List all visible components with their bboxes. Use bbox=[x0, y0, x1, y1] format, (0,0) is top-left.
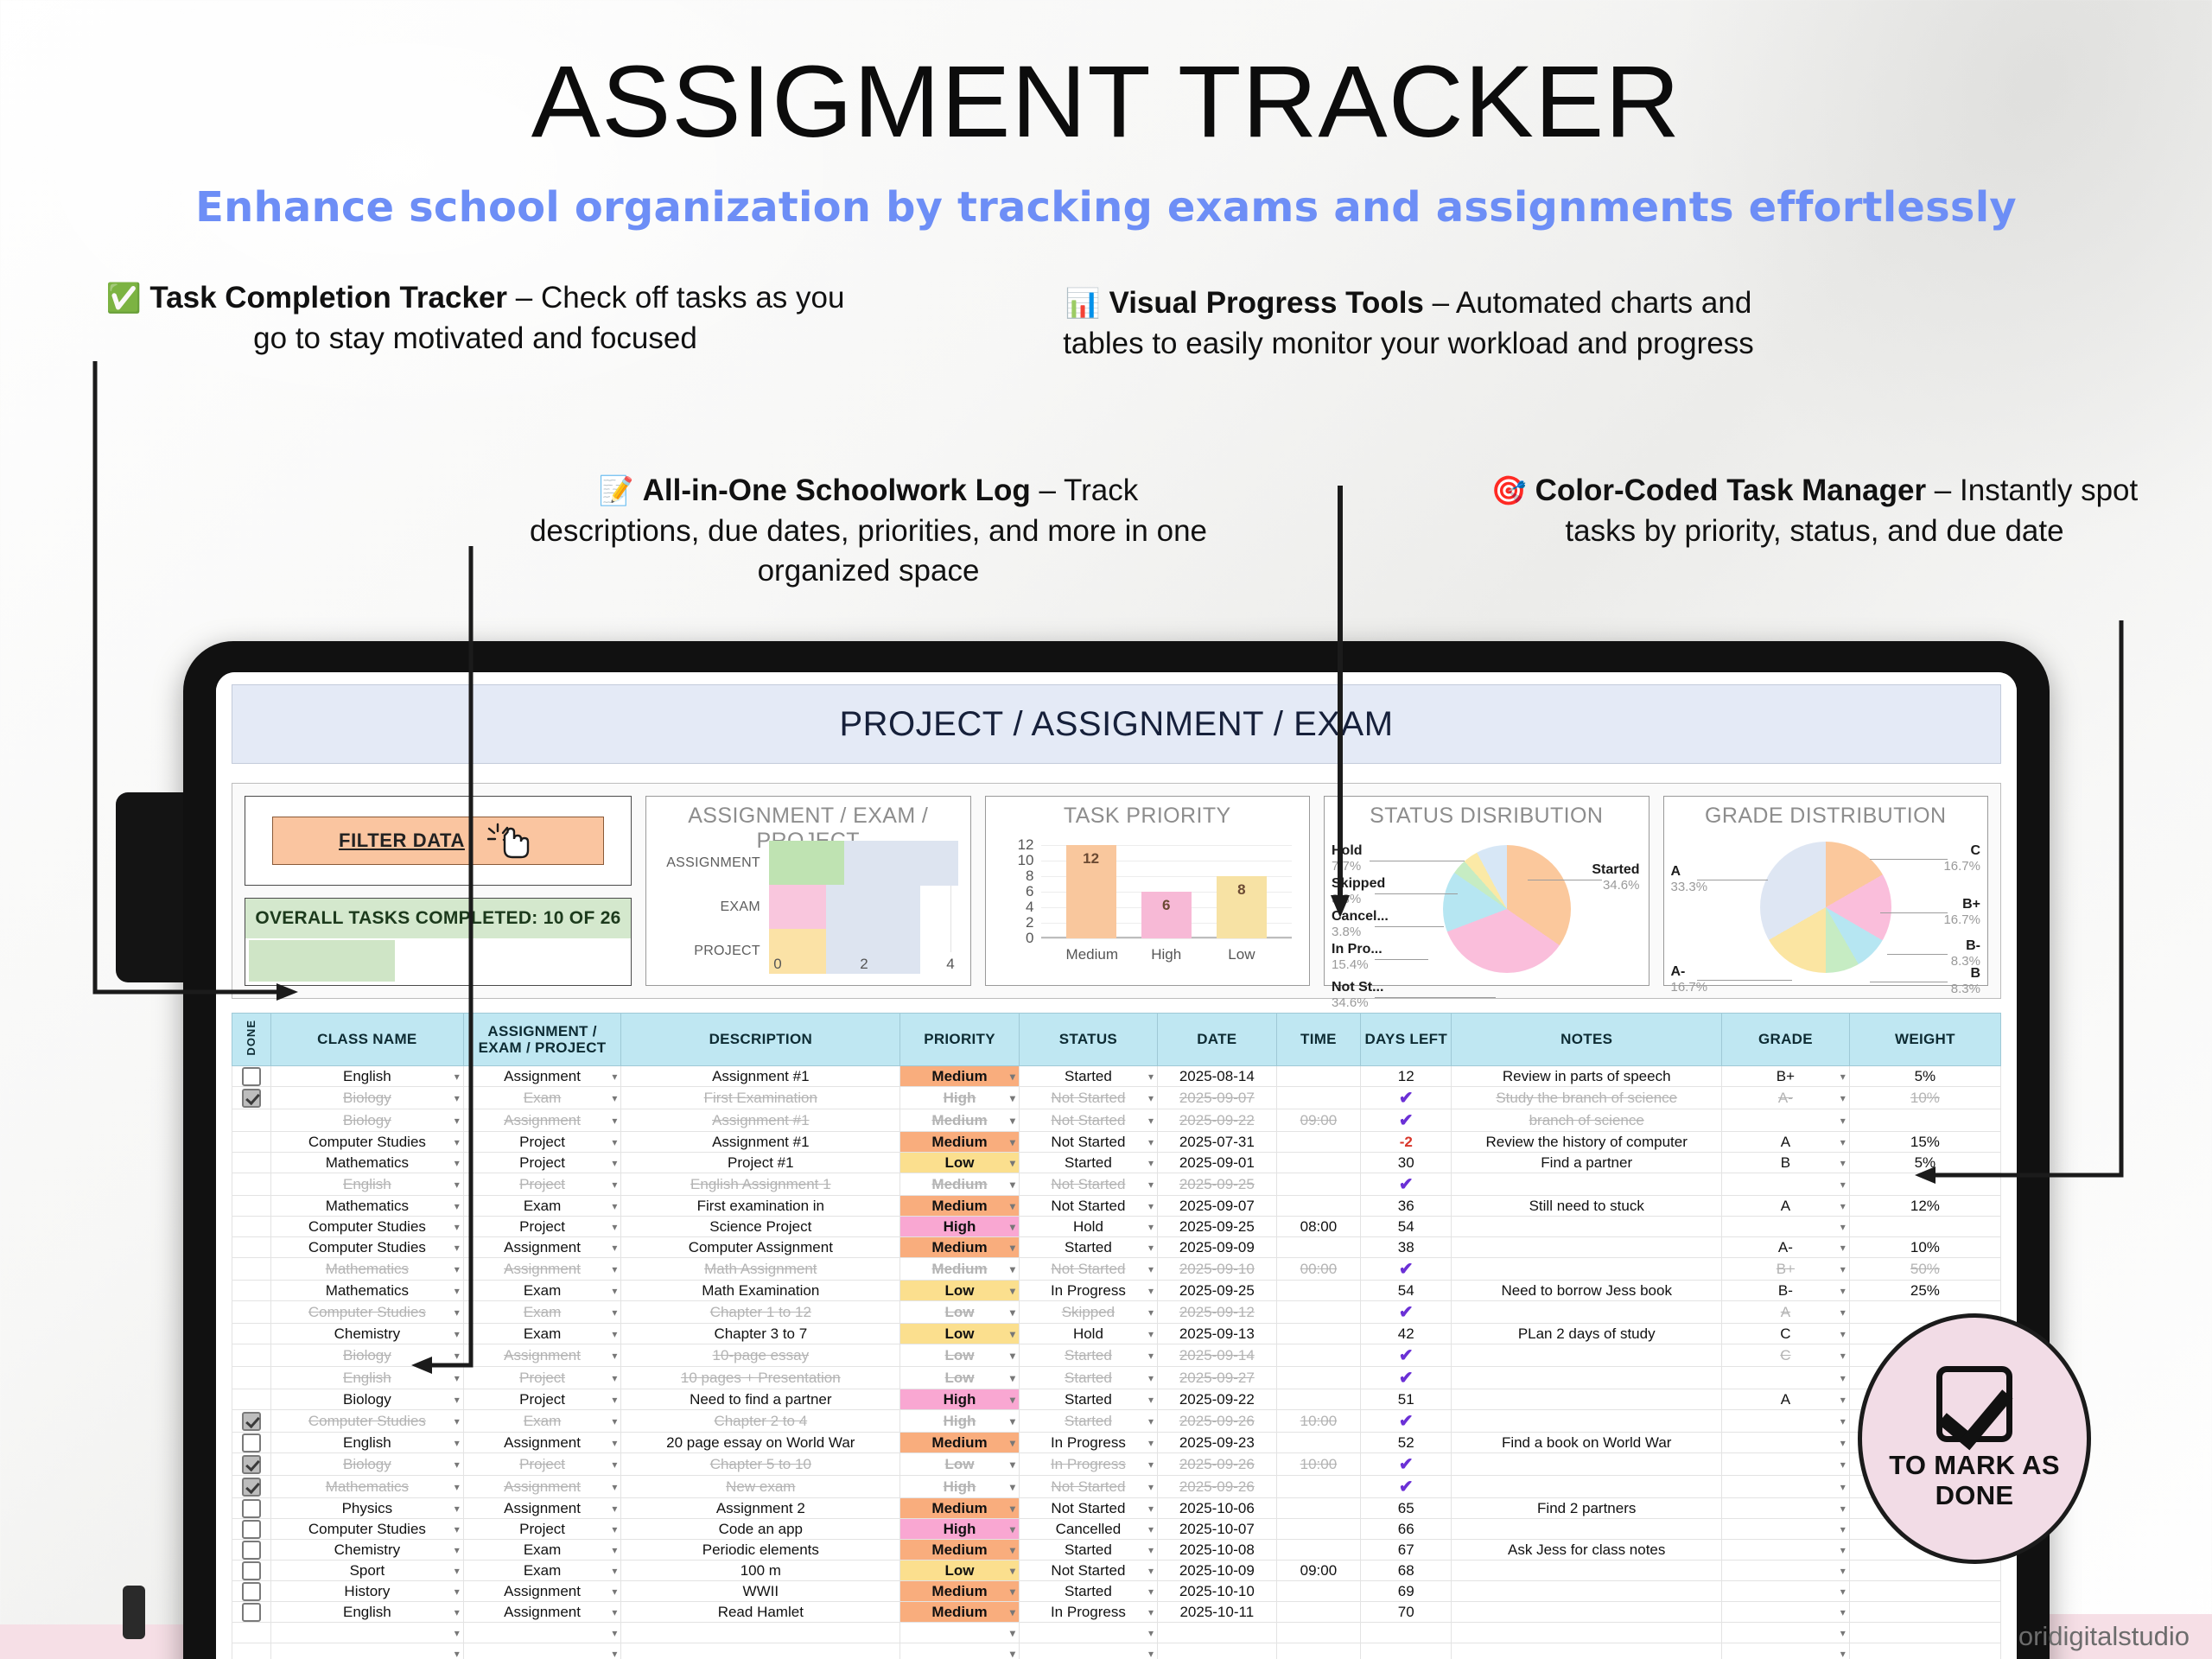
chevron-down-icon[interactable]: ▾ bbox=[1148, 1200, 1154, 1212]
cell-date[interactable]: 2025-09-13 bbox=[1158, 1324, 1277, 1344]
cell-time[interactable] bbox=[1276, 1173, 1361, 1196]
cell-notes[interactable] bbox=[1452, 1453, 1722, 1476]
cell-priority[interactable]: Medium▾ bbox=[900, 1109, 1020, 1132]
cell-weight[interactable] bbox=[1849, 1643, 2000, 1659]
col-priority[interactable]: PRIORITY bbox=[900, 1014, 1020, 1066]
table-row[interactable]: Chemistry▾Exam▾Periodic elementsMedium▾S… bbox=[232, 1540, 2001, 1560]
cell-type[interactable]: Assignment▾ bbox=[463, 1109, 621, 1132]
cell-grade[interactable]: ▾ bbox=[1722, 1410, 1850, 1433]
chevron-down-icon[interactable]: ▾ bbox=[454, 1242, 460, 1254]
cell-description[interactable]: Project #1 bbox=[621, 1153, 900, 1173]
cell-notes[interactable] bbox=[1452, 1643, 1722, 1659]
chevron-down-icon[interactable]: ▾ bbox=[612, 1242, 617, 1254]
cell-time[interactable]: 09:00 bbox=[1276, 1560, 1361, 1581]
cell-status[interactable]: In Progress▾ bbox=[1019, 1281, 1157, 1301]
cell-type[interactable]: Project▾ bbox=[463, 1217, 621, 1237]
cell-date[interactable]: 2025-09-25 bbox=[1158, 1173, 1277, 1196]
cell-notes[interactable] bbox=[1452, 1344, 1722, 1367]
cell-time[interactable]: 08:00 bbox=[1276, 1217, 1361, 1237]
cell-notes[interactable]: Still need to stuck bbox=[1452, 1196, 1722, 1217]
cell-status[interactable]: Not Started▾ bbox=[1019, 1196, 1157, 1217]
chevron-down-icon[interactable]: ▾ bbox=[454, 1221, 460, 1233]
cell-weight[interactable]: 15% bbox=[1849, 1132, 2000, 1153]
chevron-down-icon[interactable]: ▾ bbox=[612, 1394, 617, 1406]
cell-class-name[interactable]: Sport▾ bbox=[271, 1560, 464, 1581]
chevron-down-icon[interactable]: ▾ bbox=[612, 1306, 617, 1319]
cell-time[interactable] bbox=[1276, 1132, 1361, 1153]
cell-priority[interactable]: Medium▾ bbox=[900, 1173, 1020, 1196]
cell-weight[interactable] bbox=[1849, 1173, 2000, 1196]
chevron-down-icon[interactable]: ▾ bbox=[1840, 1437, 1846, 1449]
done-checkbox-cell[interactable] bbox=[232, 1087, 271, 1109]
chevron-down-icon[interactable]: ▾ bbox=[1010, 1415, 1015, 1427]
cell-description[interactable]: Chapter 2 to 4 bbox=[621, 1410, 900, 1433]
cell-grade[interactable]: A-▾ bbox=[1722, 1087, 1850, 1109]
chevron-down-icon[interactable]: ▾ bbox=[454, 1285, 460, 1297]
done-checkbox-cell[interactable] bbox=[232, 1560, 271, 1581]
checkbox-unchecked-icon[interactable] bbox=[242, 1433, 261, 1452]
done-checkbox-cell[interactable] bbox=[232, 1581, 271, 1602]
cell-type[interactable]: Project▾ bbox=[463, 1389, 621, 1410]
cell-time[interactable] bbox=[1276, 1476, 1361, 1498]
cell-class-name[interactable]: English▾ bbox=[271, 1173, 464, 1196]
done-checkbox-cell[interactable] bbox=[232, 1623, 271, 1643]
chevron-down-icon[interactable]: ▾ bbox=[454, 1306, 460, 1319]
cell-type[interactable]: Assignment▾ bbox=[463, 1581, 621, 1602]
chevron-down-icon[interactable]: ▾ bbox=[1148, 1415, 1154, 1427]
cell-status[interactable]: Not Started▾ bbox=[1019, 1109, 1157, 1132]
done-checkbox-cell[interactable] bbox=[232, 1389, 271, 1410]
cell-time[interactable] bbox=[1276, 1237, 1361, 1258]
chevron-down-icon[interactable]: ▾ bbox=[1010, 1115, 1015, 1127]
chevron-down-icon[interactable]: ▾ bbox=[1010, 1157, 1015, 1169]
cell-type[interactable]: Project▾ bbox=[463, 1453, 621, 1476]
tablet-volume-button-up[interactable] bbox=[123, 1586, 145, 1639]
cell-notes[interactable] bbox=[1452, 1367, 1722, 1389]
cell-date[interactable]: 2025-09-10 bbox=[1158, 1258, 1277, 1281]
cell-weight[interactable] bbox=[1849, 1623, 2000, 1643]
chevron-down-icon[interactable]: ▾ bbox=[1010, 1648, 1015, 1659]
chevron-down-icon[interactable]: ▾ bbox=[1148, 1586, 1154, 1598]
done-checkbox-cell[interactable] bbox=[232, 1433, 271, 1453]
done-checkbox-cell[interactable] bbox=[232, 1237, 271, 1258]
done-checkbox-cell[interactable] bbox=[232, 1217, 271, 1237]
cell-class-name[interactable]: Computer Studies▾ bbox=[271, 1410, 464, 1433]
cell-status[interactable]: Not Started▾ bbox=[1019, 1476, 1157, 1498]
cell-description[interactable]: Periodic elements bbox=[621, 1540, 900, 1560]
cell-grade[interactable]: B+▾ bbox=[1722, 1258, 1850, 1281]
chevron-down-icon[interactable]: ▾ bbox=[1840, 1115, 1846, 1127]
chevron-down-icon[interactable]: ▾ bbox=[612, 1221, 617, 1233]
cell-type[interactable]: Project▾ bbox=[463, 1173, 621, 1196]
cell-weight[interactable] bbox=[1849, 1217, 2000, 1237]
chevron-down-icon[interactable]: ▾ bbox=[454, 1415, 460, 1427]
cell-class-name[interactable]: Chemistry▾ bbox=[271, 1540, 464, 1560]
done-checkbox-cell[interactable] bbox=[232, 1602, 271, 1623]
cell-time[interactable] bbox=[1276, 1301, 1361, 1324]
chevron-down-icon[interactable]: ▾ bbox=[1010, 1459, 1015, 1471]
cell-grade[interactable]: ▾ bbox=[1722, 1602, 1850, 1623]
cell-type[interactable]: Assignment▾ bbox=[463, 1498, 621, 1519]
col-done[interactable]: DONE bbox=[232, 1014, 271, 1066]
cell-description[interactable]: English Assignment 1 bbox=[621, 1173, 900, 1196]
chevron-down-icon[interactable]: ▾ bbox=[1840, 1459, 1846, 1471]
cell-date[interactable]: 2025-10-10 bbox=[1158, 1581, 1277, 1602]
chevron-down-icon[interactable]: ▾ bbox=[1840, 1503, 1846, 1515]
done-checkbox-cell[interactable] bbox=[232, 1324, 271, 1344]
cell-type[interactable]: Project▾ bbox=[463, 1153, 621, 1173]
cell-type[interactable]: Exam▾ bbox=[463, 1087, 621, 1109]
table-row[interactable]: Computer Studies▾Project▾Assignment #1Me… bbox=[232, 1132, 2001, 1153]
cell-notes[interactable] bbox=[1452, 1237, 1722, 1258]
cell-notes[interactable] bbox=[1452, 1476, 1722, 1498]
cell-grade[interactable]: ▾ bbox=[1722, 1109, 1850, 1132]
chevron-down-icon[interactable]: ▾ bbox=[1148, 1115, 1154, 1127]
cell-grade[interactable]: ▾ bbox=[1722, 1173, 1850, 1196]
cell-date[interactable]: 2025-10-11 bbox=[1158, 1602, 1277, 1623]
cell-weight[interactable]: 5% bbox=[1849, 1153, 2000, 1173]
chevron-down-icon[interactable]: ▾ bbox=[454, 1648, 460, 1659]
col-class-name[interactable]: CLASS NAME bbox=[271, 1014, 464, 1066]
cell-notes[interactable]: Need to borrow Jess book bbox=[1452, 1281, 1722, 1301]
cell-class-name[interactable]: Computer Studies▾ bbox=[271, 1217, 464, 1237]
cell-description[interactable]: WWII bbox=[621, 1581, 900, 1602]
cell-time[interactable]: 10:00 bbox=[1276, 1453, 1361, 1476]
done-checkbox-cell[interactable] bbox=[232, 1173, 271, 1196]
table-row[interactable]: Computer Studies▾Project▾Science Project… bbox=[232, 1217, 2001, 1237]
cell-notes[interactable] bbox=[1452, 1581, 1722, 1602]
cell-time[interactable] bbox=[1276, 1281, 1361, 1301]
checkbox-unchecked-icon[interactable] bbox=[242, 1067, 261, 1086]
cell-grade[interactable]: ▾ bbox=[1722, 1540, 1850, 1560]
cell-description[interactable]: Assignment 2 bbox=[621, 1498, 900, 1519]
chevron-down-icon[interactable]: ▾ bbox=[454, 1179, 460, 1191]
cell-priority[interactable]: Low▾ bbox=[900, 1281, 1020, 1301]
table-row[interactable]: Mathematics▾Exam▾Math ExaminationLow▾In … bbox=[232, 1281, 2001, 1301]
cell-type[interactable]: Exam▾ bbox=[463, 1324, 621, 1344]
cell-class-name[interactable]: Biology▾ bbox=[271, 1109, 464, 1132]
chevron-down-icon[interactable]: ▾ bbox=[612, 1328, 617, 1340]
chevron-down-icon[interactable]: ▾ bbox=[1010, 1092, 1015, 1104]
cell-status[interactable]: In Progress▾ bbox=[1019, 1453, 1157, 1476]
cell-description[interactable]: Assignment #1 bbox=[621, 1109, 900, 1132]
cell-description[interactable]: Chapter 1 to 12 bbox=[621, 1301, 900, 1324]
chevron-down-icon[interactable]: ▾ bbox=[1148, 1221, 1154, 1233]
cell-priority[interactable]: Medium▾ bbox=[900, 1132, 1020, 1153]
cell-time[interactable] bbox=[1276, 1498, 1361, 1519]
cell-priority[interactable]: Medium▾ bbox=[900, 1433, 1020, 1453]
chevron-down-icon[interactable]: ▾ bbox=[454, 1544, 460, 1556]
cell-class-name[interactable]: ▾ bbox=[271, 1643, 464, 1659]
chevron-down-icon[interactable]: ▾ bbox=[1840, 1157, 1846, 1169]
cell-date[interactable]: 2025-09-14 bbox=[1158, 1344, 1277, 1367]
chevron-down-icon[interactable]: ▾ bbox=[454, 1136, 460, 1148]
chevron-down-icon[interactable]: ▾ bbox=[454, 1627, 460, 1639]
cell-grade[interactable]: B+▾ bbox=[1722, 1066, 1850, 1087]
cell-class-name[interactable]: Biology▾ bbox=[271, 1087, 464, 1109]
chevron-down-icon[interactable]: ▾ bbox=[612, 1179, 617, 1191]
cell-description[interactable] bbox=[621, 1643, 900, 1659]
cell-grade[interactable]: A▾ bbox=[1722, 1132, 1850, 1153]
cell-grade[interactable]: A▾ bbox=[1722, 1196, 1850, 1217]
cell-date[interactable]: 2025-10-07 bbox=[1158, 1519, 1277, 1540]
cell-status[interactable]: ▾ bbox=[1019, 1623, 1157, 1643]
done-checkbox-cell[interactable] bbox=[232, 1153, 271, 1173]
cell-notes[interactable]: PLan 2 days of study bbox=[1452, 1324, 1722, 1344]
chevron-down-icon[interactable]: ▾ bbox=[1010, 1242, 1015, 1254]
cell-date[interactable]: 2025-09-12 bbox=[1158, 1301, 1277, 1324]
cell-description[interactable]: Science Project bbox=[621, 1217, 900, 1237]
cell-class-name[interactable]: Mathematics▾ bbox=[271, 1281, 464, 1301]
col-type[interactable]: ASSIGNMENT / EXAM / PROJECT bbox=[463, 1014, 621, 1066]
chevron-down-icon[interactable]: ▾ bbox=[1010, 1394, 1015, 1406]
cell-grade[interactable]: C▾ bbox=[1722, 1344, 1850, 1367]
cell-date[interactable]: 2025-09-25 bbox=[1158, 1217, 1277, 1237]
done-checkbox-cell[interactable] bbox=[232, 1367, 271, 1389]
checkbox-unchecked-icon[interactable] bbox=[242, 1561, 261, 1580]
chevron-down-icon[interactable]: ▾ bbox=[1010, 1136, 1015, 1148]
cell-class-name[interactable]: History▾ bbox=[271, 1581, 464, 1602]
cell-description[interactable]: Need to find a partner bbox=[621, 1389, 900, 1410]
chevron-down-icon[interactable]: ▾ bbox=[1840, 1586, 1846, 1598]
cell-notes[interactable]: Study the branch of science bbox=[1452, 1087, 1722, 1109]
cell-description[interactable]: 10-page essay bbox=[621, 1344, 900, 1367]
chevron-down-icon[interactable]: ▾ bbox=[1010, 1437, 1015, 1449]
chevron-down-icon[interactable]: ▾ bbox=[1148, 1242, 1154, 1254]
cell-description[interactable]: 100 m bbox=[621, 1560, 900, 1581]
cell-priority[interactable]: Medium▾ bbox=[900, 1602, 1020, 1623]
col-status[interactable]: STATUS bbox=[1019, 1014, 1157, 1066]
chevron-down-icon[interactable]: ▾ bbox=[612, 1523, 617, 1535]
cell-priority[interactable]: Medium▾ bbox=[900, 1540, 1020, 1560]
cell-time[interactable] bbox=[1276, 1196, 1361, 1217]
cell-grade[interactable]: C▾ bbox=[1722, 1324, 1850, 1344]
cell-class-name[interactable]: English▾ bbox=[271, 1066, 464, 1087]
chevron-down-icon[interactable]: ▾ bbox=[1840, 1179, 1846, 1191]
chevron-down-icon[interactable]: ▾ bbox=[612, 1350, 617, 1362]
cell-priority[interactable]: Low▾ bbox=[900, 1324, 1020, 1344]
chevron-down-icon[interactable]: ▾ bbox=[1010, 1586, 1015, 1598]
cell-grade[interactable]: B▾ bbox=[1722, 1153, 1850, 1173]
chevron-down-icon[interactable]: ▾ bbox=[612, 1263, 617, 1275]
chevron-down-icon[interactable]: ▾ bbox=[612, 1136, 617, 1148]
cell-grade[interactable]: A-▾ bbox=[1722, 1237, 1850, 1258]
chevron-down-icon[interactable]: ▾ bbox=[1148, 1544, 1154, 1556]
done-checkbox-cell[interactable] bbox=[232, 1281, 271, 1301]
cell-grade[interactable]: ▾ bbox=[1722, 1581, 1850, 1602]
cell-type[interactable]: Project▾ bbox=[463, 1367, 621, 1389]
cell-type[interactable]: Project▾ bbox=[463, 1132, 621, 1153]
cell-date[interactable]: 2025-10-06 bbox=[1158, 1498, 1277, 1519]
chevron-down-icon[interactable]: ▾ bbox=[1840, 1285, 1846, 1297]
table-row[interactable]: ▾▾▾▾▾ bbox=[232, 1623, 2001, 1643]
cell-weight[interactable]: 25% bbox=[1849, 1281, 2000, 1301]
chevron-down-icon[interactable]: ▾ bbox=[612, 1200, 617, 1212]
chevron-down-icon[interactable]: ▾ bbox=[1840, 1221, 1846, 1233]
cell-date[interactable]: 2025-09-26 bbox=[1158, 1410, 1277, 1433]
cell-time[interactable] bbox=[1276, 1433, 1361, 1453]
cell-status[interactable]: Not Started▾ bbox=[1019, 1132, 1157, 1153]
cell-status[interactable]: In Progress▾ bbox=[1019, 1602, 1157, 1623]
cell-date[interactable]: 2025-07-31 bbox=[1158, 1132, 1277, 1153]
chevron-down-icon[interactable]: ▾ bbox=[1148, 1606, 1154, 1618]
chevron-down-icon[interactable]: ▾ bbox=[1840, 1242, 1846, 1254]
cell-weight[interactable]: 10% bbox=[1849, 1087, 2000, 1109]
cell-status[interactable]: Not Started▾ bbox=[1019, 1258, 1157, 1281]
cell-time[interactable] bbox=[1276, 1153, 1361, 1173]
cell-time[interactable] bbox=[1276, 1344, 1361, 1367]
cell-priority[interactable]: Low▾ bbox=[900, 1367, 1020, 1389]
cell-status[interactable]: Not Started▾ bbox=[1019, 1087, 1157, 1109]
checkbox-unchecked-icon[interactable] bbox=[242, 1541, 261, 1560]
chevron-down-icon[interactable]: ▾ bbox=[454, 1157, 460, 1169]
cell-time[interactable] bbox=[1276, 1519, 1361, 1540]
cell-grade[interactable]: B-▾ bbox=[1722, 1281, 1850, 1301]
done-checkbox-cell[interactable] bbox=[232, 1066, 271, 1087]
cell-description[interactable]: 10 pages + Presentation bbox=[621, 1367, 900, 1389]
table-row[interactable]: Computer Studies▾Exam▾Chapter 2 to 4High… bbox=[232, 1410, 2001, 1433]
chevron-down-icon[interactable]: ▾ bbox=[1010, 1179, 1015, 1191]
cell-priority[interactable]: High▾ bbox=[900, 1476, 1020, 1498]
chevron-down-icon[interactable]: ▾ bbox=[454, 1263, 460, 1275]
col-days-left[interactable]: DAYS LEFT bbox=[1361, 1014, 1452, 1066]
cell-description[interactable]: New exam bbox=[621, 1476, 900, 1498]
done-checkbox-cell[interactable] bbox=[232, 1540, 271, 1560]
table-row[interactable]: Mathematics▾Exam▾First examination inMed… bbox=[232, 1196, 2001, 1217]
cell-priority[interactable]: ▾ bbox=[900, 1643, 1020, 1659]
checkbox-checked-icon[interactable] bbox=[242, 1455, 261, 1474]
cell-priority[interactable]: Medium▾ bbox=[900, 1581, 1020, 1602]
col-description[interactable]: DESCRIPTION bbox=[621, 1014, 900, 1066]
chevron-down-icon[interactable]: ▾ bbox=[612, 1092, 617, 1104]
chevron-down-icon[interactable]: ▾ bbox=[1148, 1459, 1154, 1471]
chevron-down-icon[interactable]: ▾ bbox=[454, 1200, 460, 1212]
cell-type[interactable]: Assignment▾ bbox=[463, 1344, 621, 1367]
cell-description[interactable]: Computer Assignment bbox=[621, 1237, 900, 1258]
chevron-down-icon[interactable]: ▾ bbox=[1840, 1372, 1846, 1384]
done-checkbox-cell[interactable] bbox=[232, 1344, 271, 1367]
chevron-down-icon[interactable]: ▾ bbox=[1148, 1648, 1154, 1659]
chevron-down-icon[interactable]: ▾ bbox=[612, 1606, 617, 1618]
cell-date[interactable]: 2025-09-26 bbox=[1158, 1453, 1277, 1476]
chevron-down-icon[interactable]: ▾ bbox=[1010, 1263, 1015, 1275]
cell-status[interactable]: Started▾ bbox=[1019, 1237, 1157, 1258]
chevron-down-icon[interactable]: ▾ bbox=[454, 1437, 460, 1449]
cell-date[interactable]: 2025-10-09 bbox=[1158, 1560, 1277, 1581]
chevron-down-icon[interactable]: ▾ bbox=[612, 1648, 617, 1659]
cell-date[interactable]: 2025-09-07 bbox=[1158, 1087, 1277, 1109]
checkbox-unchecked-icon[interactable] bbox=[242, 1499, 261, 1518]
cell-weight[interactable] bbox=[1849, 1602, 2000, 1623]
chevron-down-icon[interactable]: ▾ bbox=[1010, 1565, 1015, 1577]
cell-class-name[interactable]: English▾ bbox=[271, 1367, 464, 1389]
table-row[interactable]: Biology▾Project▾Need to find a partnerHi… bbox=[232, 1389, 2001, 1410]
chevron-down-icon[interactable]: ▾ bbox=[1148, 1350, 1154, 1362]
done-checkbox-cell[interactable] bbox=[232, 1132, 271, 1153]
table-row[interactable]: English▾Assignment▾Assignment #1Medium▾S… bbox=[232, 1066, 2001, 1087]
done-checkbox-cell[interactable] bbox=[232, 1258, 271, 1281]
cell-grade[interactable]: A▾ bbox=[1722, 1389, 1850, 1410]
chevron-down-icon[interactable]: ▾ bbox=[1148, 1071, 1154, 1083]
cell-time[interactable] bbox=[1276, 1066, 1361, 1087]
chevron-down-icon[interactable]: ▾ bbox=[1148, 1372, 1154, 1384]
cell-grade[interactable]: ▾ bbox=[1722, 1560, 1850, 1581]
cell-grade[interactable]: ▾ bbox=[1722, 1367, 1850, 1389]
chevron-down-icon[interactable]: ▾ bbox=[454, 1328, 460, 1340]
table-row[interactable]: Mathematics▾Project▾Project #1Low▾Starte… bbox=[232, 1153, 2001, 1173]
cell-grade[interactable]: ▾ bbox=[1722, 1498, 1850, 1519]
cell-priority[interactable]: High▾ bbox=[900, 1087, 1020, 1109]
cell-date[interactable]: 2025-09-01 bbox=[1158, 1153, 1277, 1173]
done-checkbox-cell[interactable] bbox=[232, 1498, 271, 1519]
chevron-down-icon[interactable]: ▾ bbox=[454, 1606, 460, 1618]
cell-date[interactable]: 2025-09-25 bbox=[1158, 1281, 1277, 1301]
table-row[interactable]: English▾Project▾10 pages + PresentationL… bbox=[232, 1367, 2001, 1389]
chevron-down-icon[interactable]: ▾ bbox=[1840, 1481, 1846, 1493]
cell-time[interactable] bbox=[1276, 1581, 1361, 1602]
cell-status[interactable]: Not Started▾ bbox=[1019, 1498, 1157, 1519]
cell-priority[interactable]: Medium▾ bbox=[900, 1258, 1020, 1281]
chevron-down-icon[interactable]: ▾ bbox=[454, 1586, 460, 1598]
cell-status[interactable]: Not Started▾ bbox=[1019, 1173, 1157, 1196]
cell-time[interactable] bbox=[1276, 1623, 1361, 1643]
cell-notes[interactable] bbox=[1452, 1173, 1722, 1196]
cell-class-name[interactable]: ▾ bbox=[271, 1623, 464, 1643]
chevron-down-icon[interactable]: ▾ bbox=[1840, 1136, 1846, 1148]
cell-time[interactable]: 10:00 bbox=[1276, 1410, 1361, 1433]
cell-class-name[interactable]: Computer Studies▾ bbox=[271, 1301, 464, 1324]
table-row[interactable]: Biology▾Project▾Chapter 5 to 10Low▾In Pr… bbox=[232, 1453, 2001, 1476]
cell-date[interactable]: 2025-09-23 bbox=[1158, 1433, 1277, 1453]
cell-status[interactable]: Hold▾ bbox=[1019, 1217, 1157, 1237]
col-time[interactable]: TIME bbox=[1276, 1014, 1361, 1066]
col-weight[interactable]: WEIGHT bbox=[1849, 1014, 2000, 1066]
cell-notes[interactable] bbox=[1452, 1560, 1722, 1581]
cell-priority[interactable]: Low▾ bbox=[900, 1301, 1020, 1324]
table-row[interactable]: Computer Studies▾Assignment▾Computer Ass… bbox=[232, 1237, 2001, 1258]
chevron-down-icon[interactable]: ▾ bbox=[1148, 1565, 1154, 1577]
cell-description[interactable]: Math Assignment bbox=[621, 1258, 900, 1281]
cell-priority[interactable]: High▾ bbox=[900, 1389, 1020, 1410]
cell-description[interactable]: Code an app bbox=[621, 1519, 900, 1540]
cell-description[interactable]: Chapter 3 to 7 bbox=[621, 1324, 900, 1344]
chevron-down-icon[interactable]: ▾ bbox=[612, 1503, 617, 1515]
chevron-down-icon[interactable]: ▾ bbox=[612, 1372, 617, 1384]
cell-notes[interactable] bbox=[1452, 1301, 1722, 1324]
chevron-down-icon[interactable]: ▾ bbox=[612, 1415, 617, 1427]
cell-type[interactable]: Assignment▾ bbox=[463, 1066, 621, 1087]
checkbox-checked-icon[interactable] bbox=[242, 1412, 261, 1431]
cell-grade[interactable]: ▾ bbox=[1722, 1643, 1850, 1659]
cell-weight[interactable]: 50% bbox=[1849, 1258, 2000, 1281]
table-row[interactable]: Biology▾Assignment▾Assignment #1Medium▾N… bbox=[232, 1109, 2001, 1132]
cell-priority[interactable]: Low▾ bbox=[900, 1344, 1020, 1367]
cell-notes[interactable] bbox=[1452, 1623, 1722, 1643]
cell-priority[interactable]: High▾ bbox=[900, 1217, 1020, 1237]
chevron-down-icon[interactable]: ▾ bbox=[612, 1627, 617, 1639]
checkbox-unchecked-icon[interactable] bbox=[242, 1603, 261, 1622]
chevron-down-icon[interactable]: ▾ bbox=[1148, 1285, 1154, 1297]
cell-date[interactable]: 2025-09-07 bbox=[1158, 1196, 1277, 1217]
cell-notes[interactable]: Find a partner bbox=[1452, 1153, 1722, 1173]
chevron-down-icon[interactable]: ▾ bbox=[454, 1394, 460, 1406]
chevron-down-icon[interactable]: ▾ bbox=[1148, 1092, 1154, 1104]
chevron-down-icon[interactable]: ▾ bbox=[1010, 1221, 1015, 1233]
cell-priority[interactable]: Low▾ bbox=[900, 1153, 1020, 1173]
cell-time[interactable] bbox=[1276, 1602, 1361, 1623]
chevron-down-icon[interactable]: ▾ bbox=[1840, 1306, 1846, 1319]
chevron-down-icon[interactable]: ▾ bbox=[1010, 1606, 1015, 1618]
